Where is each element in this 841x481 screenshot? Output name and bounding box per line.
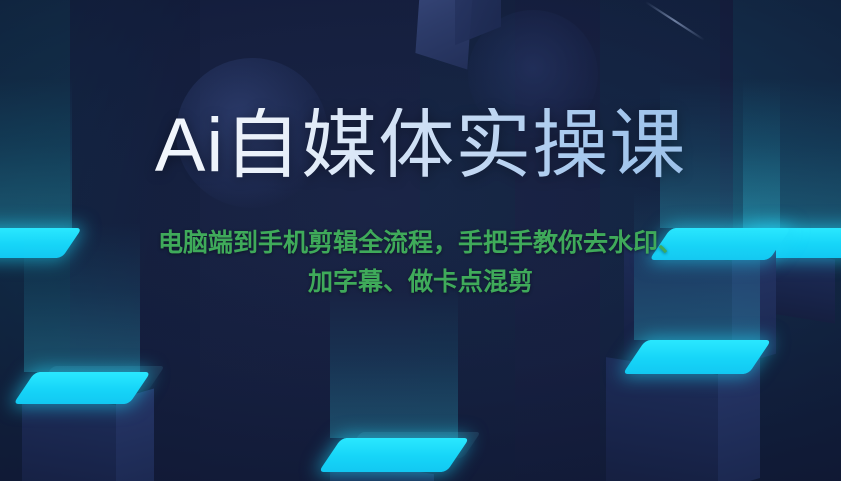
poster-text-layer: Ai自媒体实操课 电脑端到手机剪辑全流程，手把手教你去水印、 加字幕、做卡点混剪 [0,0,841,481]
poster-title: Ai自媒体实操课 [155,108,687,184]
poster-subtitle-line-1: 电脑端到手机剪辑全流程，手把手教你去水印、 [76,224,766,263]
poster-subtitle-line-2: 加字幕、做卡点混剪 [76,263,766,302]
poster-subtitle: 电脑端到手机剪辑全流程，手把手教你去水印、 加字幕、做卡点混剪 [76,224,766,302]
course-poster: Ai自媒体实操课 电脑端到手机剪辑全流程，手把手教你去水印、 加字幕、做卡点混剪 [0,0,841,481]
